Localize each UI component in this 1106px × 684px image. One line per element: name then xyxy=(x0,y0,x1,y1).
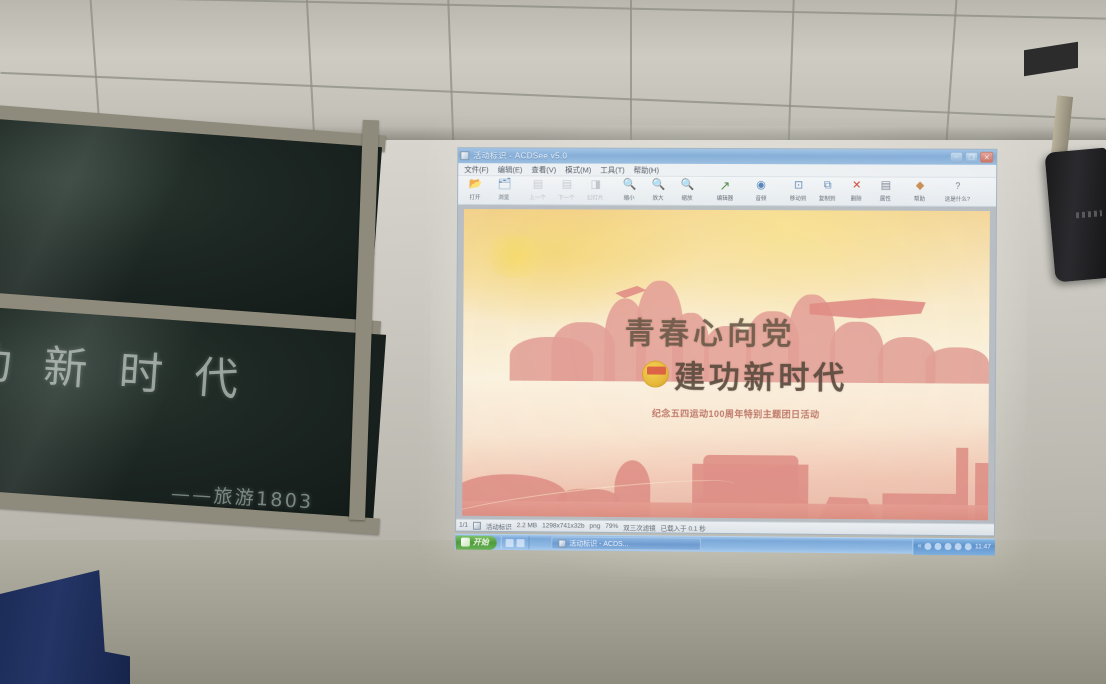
taskbar-task-acdsee[interactable]: 活动标识 - ACDS... xyxy=(551,536,701,550)
toolbar-button-zoom-in[interactable]: 🔍 放大 xyxy=(644,179,673,202)
minimize-button[interactable]: – xyxy=(950,152,963,163)
toolbar-button-delete[interactable]: ✕ 删除 xyxy=(842,179,871,202)
status-filesize: 2.2 MB xyxy=(517,522,538,529)
windows-flag-icon xyxy=(461,538,470,547)
toolbar-label: 删除 xyxy=(851,194,862,202)
editor-icon: ↗ xyxy=(720,179,731,192)
toolbar-button-zoom-out[interactable]: 🔍 缩小 xyxy=(615,179,644,202)
ceiling-rail xyxy=(0,0,1106,20)
show-desktop-icon[interactable] xyxy=(506,538,514,546)
browser-icon[interactable] xyxy=(517,539,525,547)
status-zoom-level: 79% xyxy=(605,523,618,530)
poster-title-row2: 建功新时代 xyxy=(642,351,848,397)
toolbar-label: 复制到 xyxy=(819,194,836,202)
communist-youth-league-emblem-icon xyxy=(642,360,669,387)
blackboard-sheen xyxy=(0,117,382,327)
toolbar-label: 上一个 xyxy=(530,193,547,201)
status-dimensions: 1298x741x32b xyxy=(542,522,584,529)
status-format: png xyxy=(590,523,601,530)
poster-image: 青春心向党 建功新时代 纪念五四运动100周年特别主题团日活动 xyxy=(462,209,990,520)
maximize-button[interactable]: ❐ xyxy=(965,152,978,163)
poster-title-line2: 建功新时代 xyxy=(674,351,848,397)
window-controls[interactable]: – ❐ ✕ xyxy=(950,152,994,163)
network-icon[interactable] xyxy=(945,543,952,550)
toolbar-button-properties[interactable]: ▤ 属性 xyxy=(871,179,900,202)
help-icon: ◆ xyxy=(916,180,925,193)
status-load-time: 已载入于 0.1 秒 xyxy=(661,522,706,532)
toolbar-label: 帮助 xyxy=(914,194,925,202)
menu-item-tools[interactable]: 工具(T) xyxy=(600,164,625,175)
input-method-icon[interactable] xyxy=(965,543,972,550)
toolbar-button-help[interactable]: ◆ 帮助 xyxy=(905,180,934,203)
toolbar-label: 打开 xyxy=(470,192,481,200)
classroom-scene: 功 新 时 代 ——旅游1803 活动标识 - ACDSee v5.0 – ❐ … xyxy=(0,0,1106,684)
menu-item-help[interactable]: 帮助(H) xyxy=(634,164,659,175)
blackboard: 功 新 时 代 ——旅游1803 xyxy=(0,120,386,630)
next-icon: ▤ xyxy=(562,178,572,191)
wall-speaker xyxy=(1044,148,1106,283)
zoom-select-icon: 🔍 xyxy=(681,179,695,192)
acdsee-icon xyxy=(460,151,469,160)
browse-icon: 🗂 xyxy=(497,178,511,191)
menu-item-edit[interactable]: 编辑(E) xyxy=(498,164,523,175)
system-tray[interactable]: « 11:47 xyxy=(913,538,995,555)
poster-text-block: 青春心向党 建功新时代 纪念五四运动100周年特别主题团日活动 xyxy=(462,209,990,520)
start-button[interactable]: 开始 xyxy=(456,535,497,549)
close-button[interactable]: ✕ xyxy=(980,152,993,163)
zoom-in-icon: 🔍 xyxy=(652,179,666,192)
tray-expand-chevron-icon[interactable]: « xyxy=(918,543,922,550)
properties-icon: ▤ xyxy=(881,180,892,193)
toolbar-label: 这是什么? xyxy=(945,194,970,202)
toolbar-label: 编辑器 xyxy=(717,193,734,201)
projection-screen: 活动标识 - ACDSee v5.0 – ❐ ✕ 文件(F) 编辑(E) 查看(… xyxy=(455,147,997,554)
toolbar-label: 移动到 xyxy=(790,194,807,202)
speaker-vents-icon xyxy=(1076,210,1102,218)
toolbar-label: 幻灯片 xyxy=(587,193,604,201)
toolbar-button-browse[interactable]: 🗂 浏览 xyxy=(490,178,519,201)
toolbar-button-editor[interactable]: ↗ 编辑器 xyxy=(707,179,743,202)
open-folder-icon: 📂 xyxy=(469,178,483,191)
toolbar-label: 下一个 xyxy=(559,193,576,201)
toolbar-label: 音频 xyxy=(755,193,766,201)
blackboard-panel-upper xyxy=(0,117,382,327)
start-button-label: 开始 xyxy=(473,537,489,548)
image-file-icon xyxy=(473,521,481,529)
toolbar-button-audio[interactable]: ◉ 音频 xyxy=(743,179,779,202)
zoom-out-icon: 🔍 xyxy=(623,179,637,192)
delete-icon: ✕ xyxy=(852,179,861,192)
menu-item-file[interactable]: 文件(F) xyxy=(464,164,488,175)
toolbar[interactable]: 📂 打开 🗂 浏览 ▤ 上一个 ▤ 下一个 ◨ 幻灯片 xyxy=(458,176,996,207)
volume-icon[interactable] xyxy=(935,543,942,550)
taskbar-task-label: 活动标识 - ACDS... xyxy=(569,538,628,549)
tray-clock[interactable]: 11:47 xyxy=(975,543,991,550)
move-to-icon: ⊡ xyxy=(794,179,803,192)
copy-to-icon: ⧉ xyxy=(824,179,832,192)
slideshow-icon: ◨ xyxy=(591,179,601,192)
ceiling-recess xyxy=(1024,42,1078,77)
toolbar-button-copy-to[interactable]: ⧉ 复制到 xyxy=(813,179,842,202)
toolbar-button-move-to[interactable]: ⊡ 移动到 xyxy=(784,179,813,202)
window-title: 活动标识 - ACDSee v5.0 xyxy=(473,150,567,161)
toolbar-label: 缩放 xyxy=(682,193,693,201)
audio-icon: ◉ xyxy=(756,179,766,192)
toolbar-button-next[interactable]: ▤ 下一个 xyxy=(552,178,581,201)
toolbar-button-slideshow[interactable]: ◨ 幻灯片 xyxy=(581,179,610,202)
acdsee-window[interactable]: 活动标识 - ACDSee v5.0 – ❐ ✕ 文件(F) 编辑(E) 查看(… xyxy=(455,147,997,536)
usb-icon[interactable] xyxy=(955,543,962,550)
whats-this-icon: ? xyxy=(955,180,960,193)
status-filter: 双三次滤镜 xyxy=(623,522,655,532)
toolbar-button-open[interactable]: 📂 打开 xyxy=(461,178,490,201)
image-canvas[interactable]: 青春心向党 建功新时代 纪念五四运动100周年特别主题团日活动 xyxy=(456,205,996,523)
menu-item-view[interactable]: 查看(V) xyxy=(531,164,556,175)
poster-title-line1: 青春心向党 xyxy=(625,308,796,353)
acdsee-taskbar-icon xyxy=(558,539,566,547)
menu-item-mode[interactable]: 模式(M) xyxy=(565,164,591,175)
quick-launch-bar[interactable] xyxy=(501,536,530,549)
poster-subtitle: 纪念五四运动100周年特别主题团日活动 xyxy=(652,406,820,420)
status-page-counter: 1/1 xyxy=(459,522,468,529)
toolbar-label: 浏览 xyxy=(499,193,510,201)
status-filename: 活动标识 xyxy=(486,520,512,530)
shield-icon[interactable] xyxy=(925,543,932,550)
toolbar-label: 属性 xyxy=(880,194,891,202)
toolbar-button-zoom-select[interactable]: 🔍 缩放 xyxy=(673,179,702,202)
toolbar-button-whats-this[interactable]: ? 这是什么? xyxy=(935,180,981,203)
ceiling-rail xyxy=(0,72,1105,120)
previous-icon: ▤ xyxy=(533,178,543,191)
toolbar-label: 放大 xyxy=(653,193,664,201)
toolbar-label: 缩小 xyxy=(624,193,635,201)
toolbar-button-previous[interactable]: ▤ 上一个 xyxy=(524,178,553,201)
window-titlebar[interactable]: 活动标识 - ACDSee v5.0 – ❐ ✕ xyxy=(458,148,996,165)
